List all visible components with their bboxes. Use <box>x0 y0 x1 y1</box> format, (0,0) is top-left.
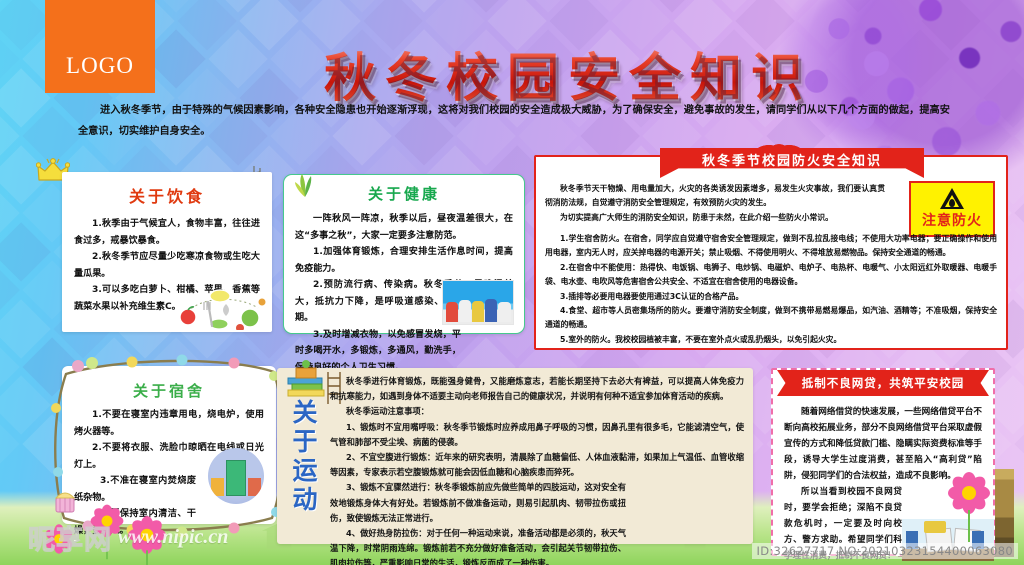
background-facet <box>1014 337 1024 397</box>
fire-paragraph: 3.插排等必要用电器要使用通过3C认证的合格产品。 <box>545 290 997 304</box>
background-facet <box>0 183 20 243</box>
poster-canvas: LOGO 秋冬校园安全知识 进入秋冬季节，由于特殊的气候因素影响，各种安全隐患也… <box>0 0 1024 565</box>
card-sport-item: 3、锻炼不宜骤然进行：秋冬季锻炼前应先做些简单的四肢运动，这对安全有效地锻炼身体… <box>330 480 626 526</box>
background-facet <box>0 222 51 282</box>
fire-warning-sign: 注意防火 <box>909 181 995 237</box>
fire-paragraph: 1.学生宿舍防火。在宿舍，同学应自觉遵守宿舍安全管理规定，做到不乱拉乱接电线；不… <box>545 232 997 261</box>
fire-paragraph: 为切实提高广大师生的消防安全知识，防患于未然，在此介绍一些防火小常识。 <box>545 211 885 225</box>
background-facet <box>1014 183 1024 243</box>
background-facet <box>0 68 51 128</box>
watermark-site-url: www.nipic.cn <box>118 526 228 549</box>
dorm-photo <box>208 448 264 504</box>
background-facet <box>0 260 20 320</box>
background-facet <box>456 0 516 12</box>
card-food-title: 关于饮食 <box>62 183 272 207</box>
card-sport-body: 秋冬季进行体育锻炼，既能强身健骨，又能磨炼意志，若能长期坚持下去必大有裨益，可以… <box>330 374 744 565</box>
fire-paragraph: 秋冬季节天干物燥、用电量加大，火灾的各类诱发因素增多，易发生火灾事故，我们要认真… <box>545 182 885 211</box>
money-bag-icon <box>924 521 946 533</box>
background-facet <box>146 0 206 12</box>
fire-body-wide: 1.学生宿舍防火。在宿舍，同学应自觉遵守宿舍安全管理规定，做到不乱拉乱接电线；不… <box>545 232 997 347</box>
card-sport-item: 4、做好热身防拉伤：对于任何一种运动来说，准备活动都是必须的，秋天气温下降，时常… <box>330 526 626 565</box>
image-id-strip: ID:32627717 NO:20210323154400063080 <box>752 543 1018 559</box>
background-facet <box>0 337 20 397</box>
card-sport-item: 秋冬季运动注意事项： <box>330 404 744 419</box>
card-food-item: 1.秋季由于气候宜人，食物丰富，往往进食过多，戒暴饮暴食。 <box>74 216 260 249</box>
card-sport-item: 秋冬季进行体育锻炼，既能强身健骨，又能磨炼意志，若能长期坚持下去必大有裨益，可以… <box>330 374 744 404</box>
card-health-title: 关于健康 <box>284 183 524 204</box>
ribbon-loan-label: 抵制不良网贷，共筑平安校园 <box>802 375 965 391</box>
food-utensils-icon <box>174 284 266 330</box>
logo-badge[interactable]: LOGO <box>45 0 155 93</box>
background-facet <box>1014 414 1024 474</box>
fire-paragraph: 5.室外的防火。我校校园植被丰富，不要在室外点火或乱扔烟头，以免引起火灾。 <box>545 333 997 347</box>
background-facet <box>177 0 237 51</box>
card-dorm: 关于宿舍 1.不要在寝室内违章用电，烧电炉，使用烤火器等。 2.不要将衣服、洗脸… <box>62 366 276 524</box>
card-dorm-title: 关于宿舍 <box>62 380 276 401</box>
background-facet <box>146 30 206 90</box>
cupcake-icon <box>52 486 78 514</box>
watermark: 昵享网 www.nipic.cn <box>28 518 228 557</box>
card-health-item: 一阵秋风一阵凉，秋季以后，昼夜温差很大，在这“多事之秋”，大家一定要多注意防范。 <box>295 211 513 244</box>
background-facet <box>642 0 702 12</box>
background-facet <box>270 0 330 12</box>
card-sport-vertical-title: 关于运动 <box>287 398 323 514</box>
background-facet <box>580 0 640 12</box>
warning-triangle-icon <box>940 188 964 209</box>
fire-warning-label: 注意防火 <box>922 210 982 230</box>
card-dorm-item: 1.不要在寝室内违章用电，烧电炉，使用烤火器等。 <box>74 407 264 440</box>
background-facet <box>518 0 578 12</box>
background-facet <box>1014 260 1024 320</box>
card-health: 关于健康 一阵秋风一阵凉，秋季以后，昼夜温差很大，在这“多事之秋”，大家一定要多… <box>283 174 525 334</box>
card-sport-item: 2、不宜空腹进行锻炼：近年来的研究表明，清晨除了血糖偏低、人体血液黏滞，如果加上… <box>330 450 744 480</box>
card-health-item: 1.加强体育锻炼，合理安排生活作息时间，提高免疫能力。 <box>295 244 513 277</box>
card-food-item: 2.秋冬季节应尽量少吃寒凉食物或生吃大量瓜果。 <box>74 249 260 282</box>
background-facet <box>0 0 20 12</box>
card-dorm-item: 3.不准在寝室内焚烧废纸杂物。 <box>74 473 196 506</box>
logo-text: LOGO <box>66 53 134 79</box>
background-facet <box>394 0 454 12</box>
flower-icon <box>946 470 992 516</box>
fire-paragraph: 4.食堂、超市等人员密集场所的防火。要遵守消防安全制度，做到不携带易燃易爆品，如… <box>545 304 997 333</box>
background-facet <box>0 30 20 90</box>
watermark-site-cn: 昵享网 <box>28 518 112 557</box>
background-facet <box>208 0 268 12</box>
ribbon-fire-label: 秋冬季节校园防火安全知识 <box>702 150 882 169</box>
background-facet <box>0 414 20 474</box>
intro-paragraph: 进入秋冬季节，由于特殊的气候因素影响，各种安全隐患也开始逐渐浮现，这将对我们校园… <box>78 100 950 142</box>
ribbon-loan-title: 抵制不良网贷，共筑平安校园 <box>777 370 989 396</box>
background-facet <box>0 0 51 51</box>
dorm-shelf <box>248 478 261 496</box>
background-facet <box>332 0 392 12</box>
leaf-sprout-icon <box>292 172 318 198</box>
background-facet <box>0 299 51 359</box>
card-sport-item: 1、锻炼时不宜用嘴呼吸：秋冬季节锻炼时应养成用鼻子呼吸的习惯，因鼻孔里有很多毛，… <box>330 420 744 450</box>
background-facet <box>704 0 764 12</box>
background-facet <box>0 107 20 167</box>
fire-paragraph: 2.在宿舍中不能使用：热得快、电饭锅、电狮子、电炒锅、电磁炉、电炉子、电热杯、电… <box>545 261 997 290</box>
dorm-door <box>226 460 246 496</box>
dorm-shelf <box>211 478 224 496</box>
card-food: 关于饮食 1.秋季由于气候宜人，食物丰富，往往进食过多，戒暴饮暴食。 2.秋冬季… <box>62 172 272 332</box>
fire-body-narrow: 秋冬季节天干物燥、用电量加大，火灾的各类诱发因素增多，易发生火灾事故，我们要认真… <box>545 182 885 225</box>
background-facet <box>208 30 268 90</box>
health-photo <box>442 280 514 325</box>
background-facet <box>0 376 51 436</box>
